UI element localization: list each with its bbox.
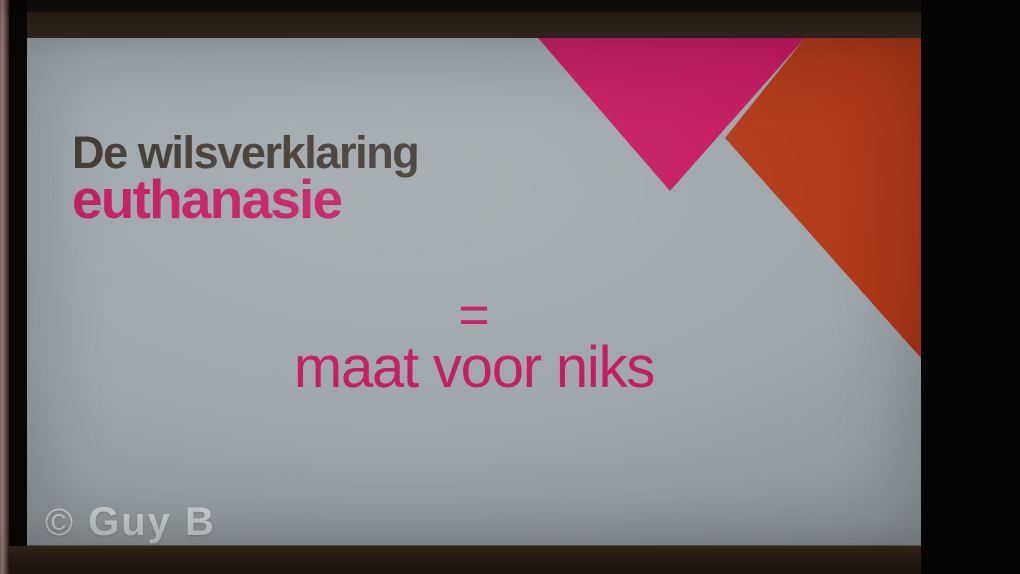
screen-bezel-left: [9, 0, 27, 574]
tagline-row: maat voor niks: [27, 338, 921, 399]
copyright-icon: ©: [45, 502, 75, 544]
slide-title: De wilsverklaring euthanasie: [72, 131, 418, 226]
frame-top-shadow: [0, 0, 1020, 12]
watermark-text: Guy B: [88, 500, 216, 544]
slide-tagline: maat voor niks: [294, 338, 654, 399]
wall-left-light-strip: [0, 0, 9, 574]
screen-bezel-right: [921, 0, 1020, 574]
slide-title-line2: euthanasie: [72, 173, 418, 226]
equals-sign: =: [458, 288, 490, 342]
watermark: © Guy B: [45, 500, 216, 545]
frame-bottom-band: [9, 546, 921, 574]
equals-row: =: [27, 288, 921, 342]
projected-slide-photo: De wilsverklaring euthanasie = maat voor…: [0, 0, 1020, 574]
presentation-slide: De wilsverklaring euthanasie = maat voor…: [27, 38, 921, 545]
